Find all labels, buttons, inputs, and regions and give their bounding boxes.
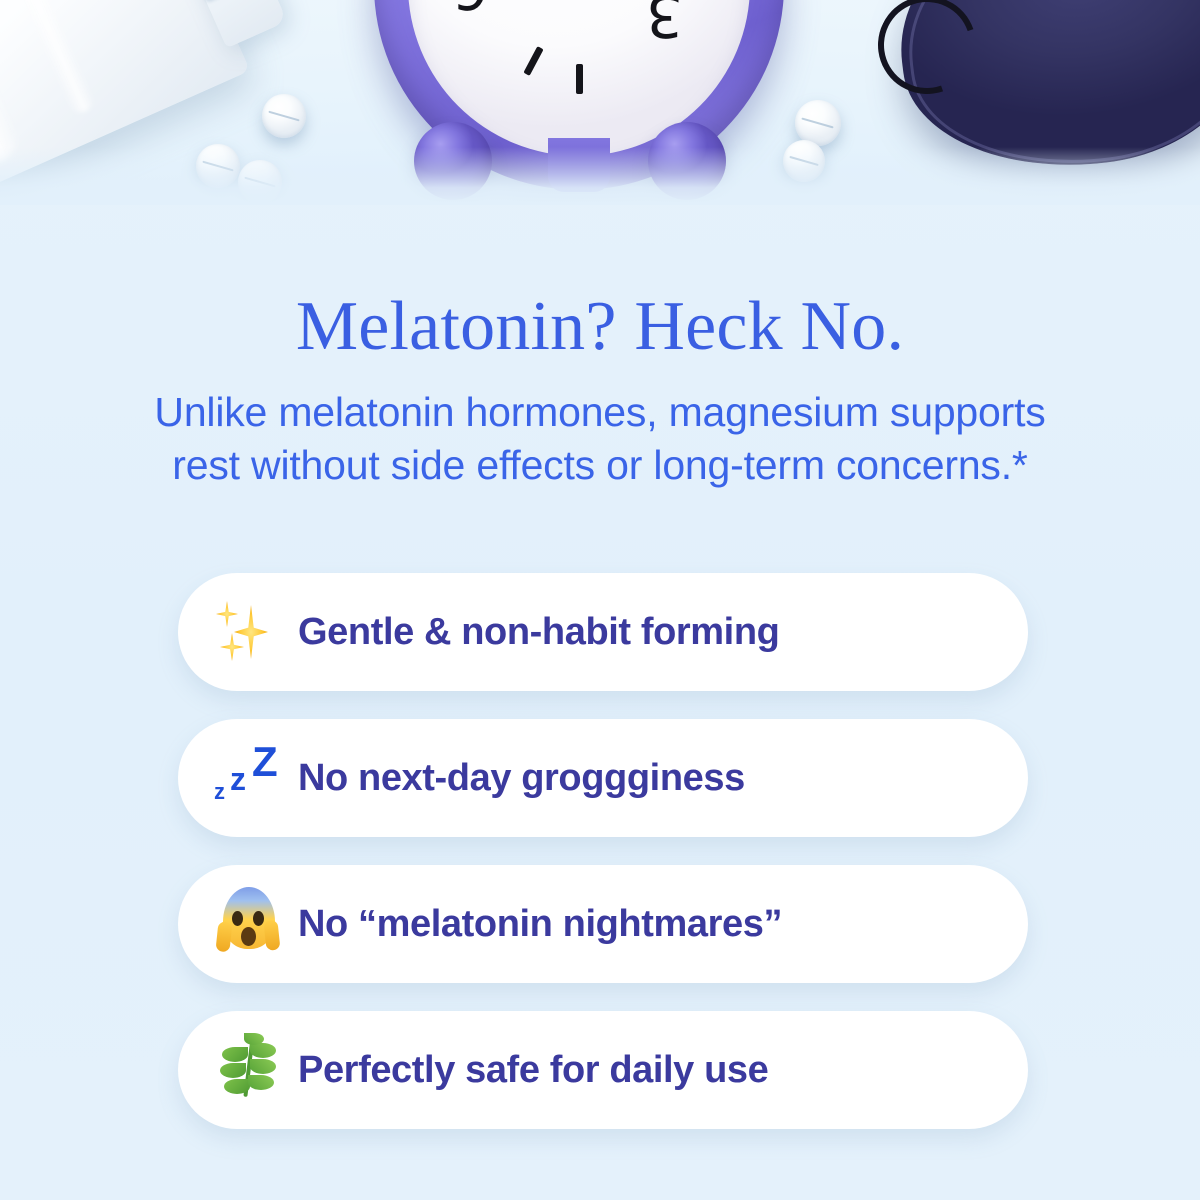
content-area: Melatonin? Heck No. Unlike melatonin hor… (0, 205, 1200, 1200)
sparkles-icon (178, 599, 298, 665)
promo-page: 6 3 Melatonin (0, 0, 1200, 1200)
clock-numeral-6: 6 (452, 0, 489, 22)
photo-band-fade (0, 147, 1200, 205)
clock-tick (576, 64, 583, 94)
feature-label: Perfectly safe for daily use (298, 1049, 768, 1092)
bottle-highlight-secondary (0, 0, 97, 116)
page-title: Melatonin? Heck No. (0, 205, 1200, 364)
subtitle-line-2: rest without side effects or long-term c… (55, 439, 1145, 491)
hero-photo-band: 6 3 (0, 0, 1200, 205)
tablet (262, 94, 306, 138)
herb-icon (178, 1033, 298, 1108)
feature-card-daily-safe[interactable]: Perfectly safe for daily use (178, 1011, 1028, 1129)
feature-card-no-grogginess[interactable]: z z Z No next-day groggginess (178, 719, 1028, 837)
feature-label: Gentle & non-habit forming (298, 611, 779, 654)
feature-card-gentle[interactable]: Gentle & non-habit forming (178, 573, 1028, 691)
zzz-icon: z z Z (178, 741, 298, 816)
clock-tick (523, 46, 543, 76)
feature-label: No next-day groggginess (298, 757, 745, 800)
page-subtitle: Unlike melatonin hormones, magnesium sup… (55, 386, 1145, 491)
feature-card-list: Gentle & non-habit forming z z Z No next… (178, 573, 1028, 1157)
feature-card-no-nightmares[interactable]: No “melatonin nightmares” (178, 865, 1028, 983)
feature-label: No “melatonin nightmares” (298, 903, 782, 946)
clock-numeral-3: 3 (646, 0, 683, 50)
subtitle-line-1: Unlike melatonin hormones, magnesium sup… (55, 386, 1145, 438)
screaming-face-icon (178, 887, 298, 962)
